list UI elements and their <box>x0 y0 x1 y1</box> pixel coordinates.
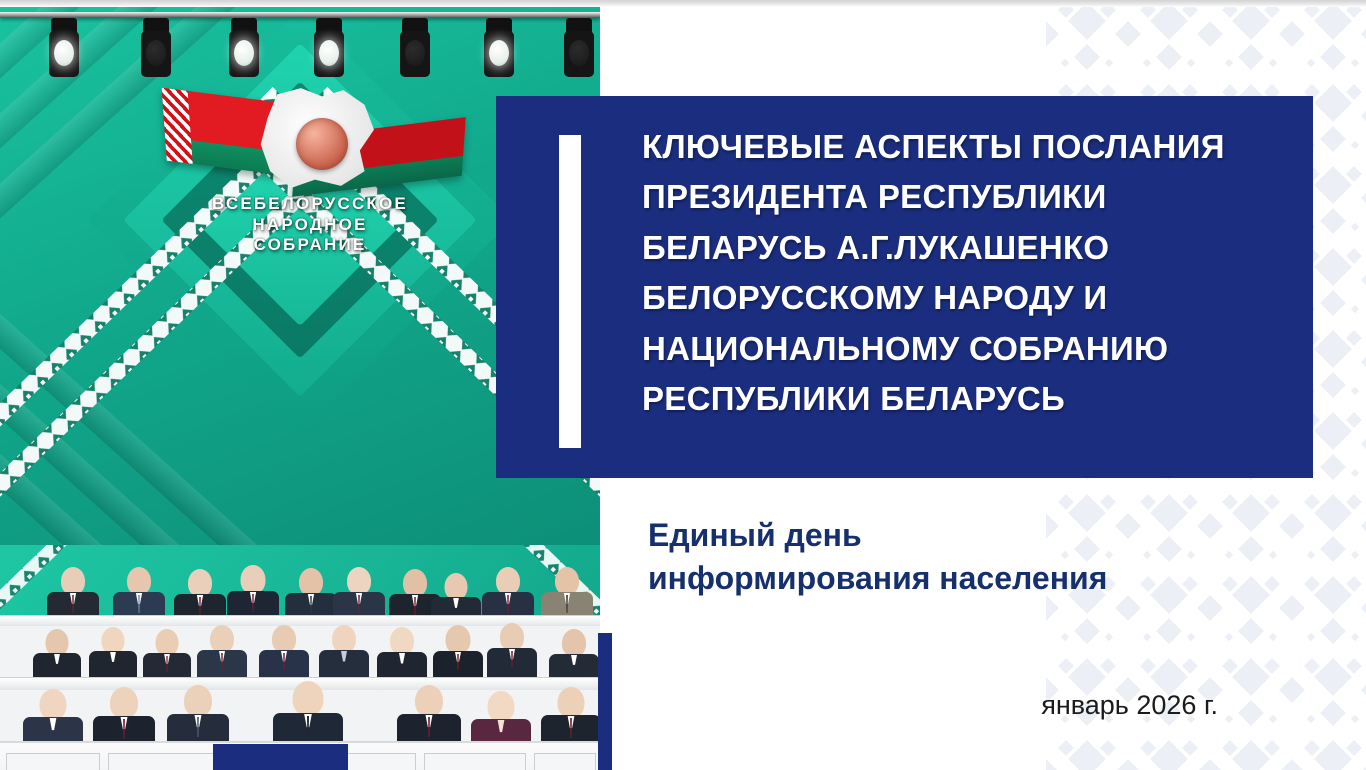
title-line-2: ПРЕЗИДЕНТА РЕСПУБЛИКИ <box>642 172 1287 222</box>
spotlight-icon <box>228 18 260 80</box>
emblem-line-1: ВСЕБЕЛОРУССКОЕ <box>150 194 470 215</box>
top-edge-strip <box>0 0 1366 7</box>
globe-icon <box>296 118 348 170</box>
presidium-rows <box>0 545 600 770</box>
slide-subtitle: Единый день информирования населения <box>648 514 1107 600</box>
bottom-blue-accent <box>213 744 348 770</box>
title-card: КЛЮЧЕВЫЕ АСПЕКТЫ ПОСЛАНИЯ ПРЕЗИДЕНТА РЕС… <box>496 96 1313 478</box>
presentation-slide: ВСЕБЕЛОРУССКОЕ НАРОДНОЕ СОБРАНИЕ <box>0 0 1366 770</box>
spotlight-icon <box>48 18 80 80</box>
title-line-5: НАЦИОНАЛЬНОМУ СОБРАНИЮ <box>642 324 1287 374</box>
title-accent-bar <box>559 135 581 448</box>
spotlight-icon <box>399 18 431 80</box>
spotlight-icon <box>483 18 515 80</box>
emblem-text: ВСЕБЕЛОРУССКОЕ НАРОДНОЕ СОБРАНИЕ <box>150 194 470 256</box>
slide-date: январь 2026 г. <box>0 690 1218 721</box>
subtitle-line-1: Единый день <box>648 514 1107 557</box>
emblem-line-2: НАРОДНОЕ <box>150 215 470 236</box>
title-line-4: БЕЛОРУССКОМУ НАРОДУ И <box>642 273 1287 323</box>
slide-title: КЛЮЧЕВЫЕ АСПЕКТЫ ПОСЛАНИЯ ПРЕЗИДЕНТА РЕС… <box>642 122 1287 425</box>
title-line-1: КЛЮЧЕВЫЕ АСПЕКТЫ ПОСЛАНИЯ <box>642 122 1287 172</box>
title-line-3: БЕЛАРУСЬ А.Г.ЛУКАШЕНКО <box>642 223 1287 273</box>
spotlight-icon <box>563 18 595 80</box>
subtitle-line-2: информирования населения <box>648 557 1107 600</box>
assembly-emblem: ВСЕБЕЛОРУССКОЕ НАРОДНОЕ СОБРАНИЕ <box>150 82 470 297</box>
title-line-6: РЕСПУБЛИКИ БЕЛАРУСЬ <box>642 374 1287 424</box>
spotlight-icon <box>140 18 172 80</box>
emblem-line-3: СОБРАНИЕ <box>150 235 470 256</box>
spotlight-icon <box>313 18 345 80</box>
